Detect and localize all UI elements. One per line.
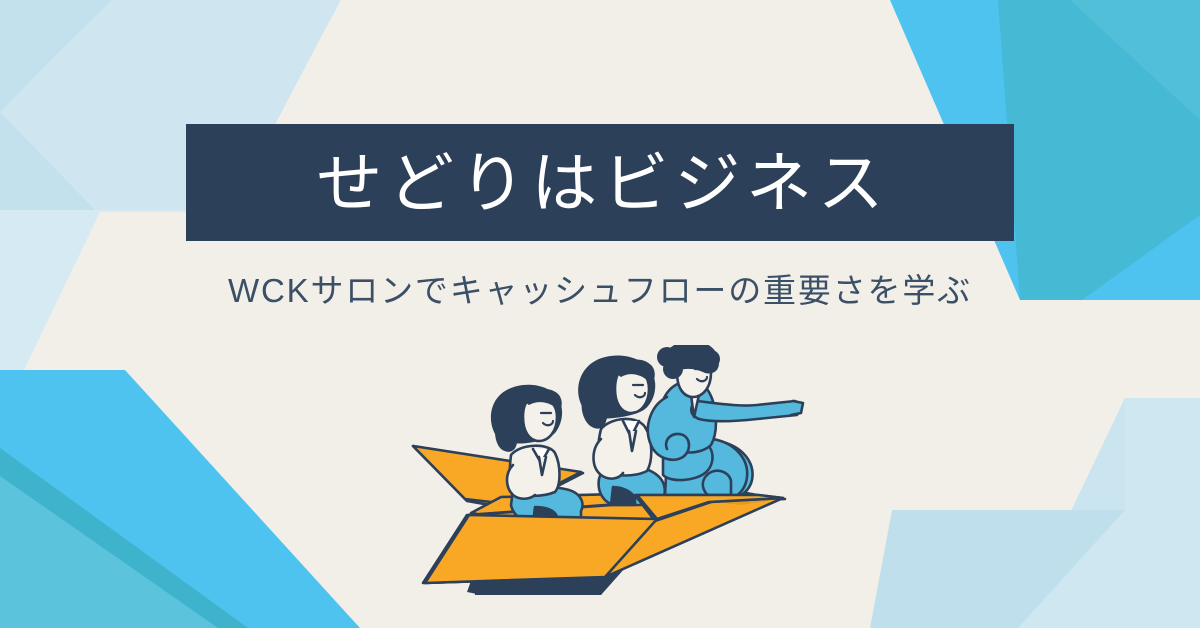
pale-blue-diagonal-bands-bottom-right [870, 398, 1200, 628]
three-businesswomen-riding-paper-airplane-illustration [405, 345, 805, 603]
lead-woman-pointing-figure [648, 345, 803, 500]
promo-banner-canvas: せどりはビジネス WCKサロンでキャッシュフローの重要さを学ぶ [0, 0, 1200, 628]
page-subtitle: WCKサロンでキャッシュフローの重要さを学ぶ [0, 271, 1200, 311]
title-banner: せどりはビジネス [186, 124, 1014, 241]
page-title: せどりはビジネス [311, 150, 890, 216]
blue-diagonal-bands-bottom-left [0, 298, 360, 628]
